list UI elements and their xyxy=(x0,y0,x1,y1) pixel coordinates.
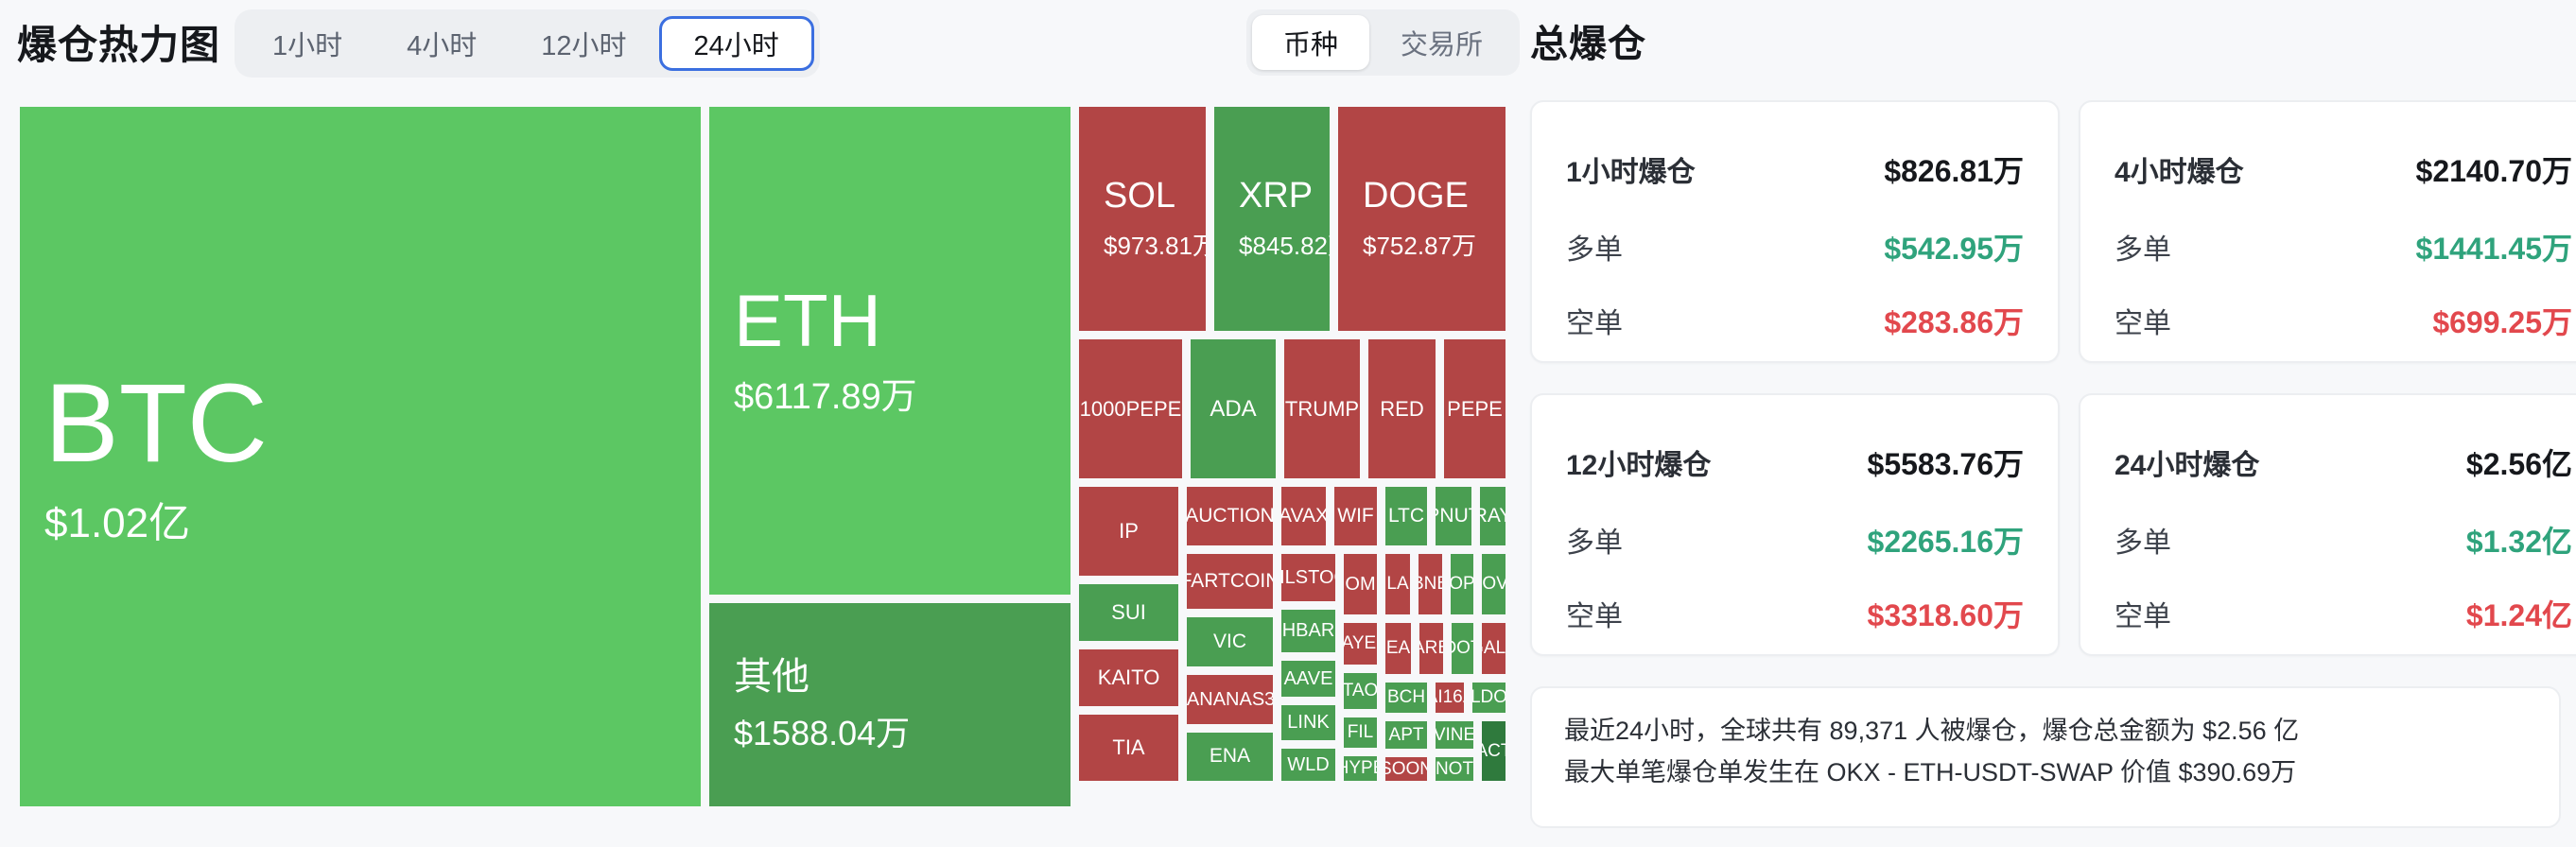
stat-label: 1小时爆仓 xyxy=(1566,148,1696,190)
stat-value-total: $5583.76万 xyxy=(1868,441,2024,484)
treemap-tile-AVAX[interactable]: AVAX xyxy=(1279,484,1329,548)
stat-label: 空单 xyxy=(2115,593,2171,634)
treemap-tile-RAY[interactable]: RAY xyxy=(1477,484,1508,548)
stat-row-short: 空单$1.24亿 xyxy=(2115,592,2572,635)
treemap-tile-PEPE[interactable]: PEPE xyxy=(1441,337,1508,481)
stat-row-short: 空单$3318.60万 xyxy=(1566,592,2024,635)
time-range-tab-1小时[interactable]: 1小时 xyxy=(240,16,374,71)
tile-symbol: JAILSTOOL xyxy=(1279,568,1338,588)
treemap-tile-BTC[interactable]: BTC$1.02亿 xyxy=(17,104,704,809)
treemap-tile-DOT[interactable]: DOT xyxy=(1449,620,1476,677)
tile-symbol: LINK xyxy=(1287,713,1329,733)
tile-symbol: ADA xyxy=(1210,397,1256,421)
stat-row-total: 12小时爆仓$5583.76万 xyxy=(1566,441,2024,484)
tile-symbol: AAVE xyxy=(1284,669,1333,689)
tile-symbol: VINE xyxy=(1434,726,1475,745)
time-range-tab-12小时[interactable]: 12小时 xyxy=(509,16,658,71)
treemap-tile-ADA[interactable]: ADA xyxy=(1188,337,1279,481)
treemap-tile-WLD[interactable]: WLD xyxy=(1279,746,1338,784)
treemap-tile-FARTCOIN[interactable]: FARTCOIN xyxy=(1184,551,1276,612)
stat-value-short: $699.25万 xyxy=(2432,299,2572,342)
treemap-tile-NOT[interactable]: NOT xyxy=(1433,754,1476,784)
stat-label: 多单 xyxy=(2115,519,2171,561)
tile-symbol: PEPE xyxy=(1447,398,1503,420)
treemap-tile-TRUMP[interactable]: TRUMP xyxy=(1281,337,1363,481)
page-header: 爆仓热力图 1小时4小时12小时24小时 币种交易所 总爆仓 xyxy=(0,0,2576,91)
tile-amount: $1.02亿 xyxy=(44,500,701,548)
stat-row-short: 空单$283.86万 xyxy=(1566,299,2024,342)
treemap-tile-NEAR[interactable]: NEAR xyxy=(1383,620,1414,677)
treemap-tile-LAYER[interactable]: LAYER xyxy=(1341,620,1380,667)
tile-symbol: SUI xyxy=(1111,601,1146,623)
treemap-tile-AAVE[interactable]: AAVE xyxy=(1279,658,1338,700)
tile-symbol: OM xyxy=(1345,575,1375,595)
time-range-tab-4小时[interactable]: 4小时 xyxy=(374,16,509,71)
stat-label: 4小时爆仓 xyxy=(2115,148,2244,190)
treemap-tile-DOGE[interactable]: DOGE$752.87万 xyxy=(1335,104,1508,334)
treemap-tile-VIC[interactable]: VIC xyxy=(1184,614,1276,669)
treemap-tile-PNUT[interactable]: PNUT xyxy=(1433,484,1474,548)
treemap-tile-FIL[interactable]: FIL xyxy=(1341,715,1380,751)
tile-symbol: WLD xyxy=(1287,755,1329,775)
treemap-tile-SOL[interactable]: SOL$973.81万 xyxy=(1076,104,1209,334)
stat-row-long: 多单$2265.16万 xyxy=(1566,518,2024,562)
treemap-tile-JAILSTOOL[interactable]: JAILSTOOL xyxy=(1279,551,1338,604)
tile-symbol: TIA xyxy=(1112,736,1144,758)
tile-symbol: FARTCOIN xyxy=(1184,571,1276,592)
tile-symbol: BNB xyxy=(1416,575,1445,594)
tile-amount: $752.87万 xyxy=(1363,233,1506,261)
treemap-tile-KAITO[interactable]: KAITO xyxy=(1076,647,1181,709)
stat-row-long: 多单$1.32亿 xyxy=(2115,518,2572,562)
page-title: 爆仓热力图 xyxy=(17,13,220,71)
stat-row-long: 多单$542.95万 xyxy=(1566,225,2024,268)
stat-value-short: $283.86万 xyxy=(1884,299,2024,342)
stat-row-short: 空单$699.25万 xyxy=(2115,299,2572,342)
treemap-tile-GALA[interactable]: GALA xyxy=(1479,620,1508,677)
treemap-tile-SOON[interactable]: SOON xyxy=(1383,754,1430,784)
tile-symbol: MOVE xyxy=(1479,575,1508,594)
stat-label: 空单 xyxy=(1566,593,1623,634)
treemap-tile-WIF[interactable]: WIF xyxy=(1332,484,1380,548)
treemap-tile-LA[interactable]: LA xyxy=(1383,551,1413,617)
treemap-tile-XRP[interactable]: XRP$845.82万 xyxy=(1211,104,1332,334)
stat-card-12小时爆仓: 12小时爆仓$5583.76万多单$2265.16万空单$3318.60万 xyxy=(1530,393,2060,656)
stat-card-4小时爆仓: 4小时爆仓$2140.70万多单$1441.45万空单$699.25万 xyxy=(2079,100,2576,363)
treemap-tile-APT[interactable]: APT xyxy=(1383,718,1430,752)
tile-symbol: IP xyxy=(1119,520,1139,542)
tile-symbol: AUCTION xyxy=(1185,506,1275,527)
tile-symbol: RAY xyxy=(1477,506,1508,527)
view-mode-toggle-group[interactable]: 币种交易所 xyxy=(1246,9,1520,76)
treemap-tile-LDO[interactable]: LDO xyxy=(1470,680,1508,716)
treemap-tile-AI16Z[interactable]: AI16Z xyxy=(1433,680,1467,716)
tile-amount: $1588.04万 xyxy=(734,714,1070,752)
tile-symbol: 1000PEPE xyxy=(1080,398,1182,420)
tile-amount: $6117.89万 xyxy=(734,377,1070,419)
tile-symbol: AI16Z xyxy=(1433,688,1467,707)
tile-symbol: TAO xyxy=(1343,682,1379,700)
stat-label: 空单 xyxy=(2115,300,2171,341)
stat-value-total: $2.56亿 xyxy=(2466,441,2572,484)
tile-symbol: KAITO xyxy=(1098,666,1160,688)
treemap-tile-ACT[interactable]: ACT xyxy=(1479,718,1508,784)
tile-symbol: NOT xyxy=(1436,760,1473,779)
treemap-tile-MOVE[interactable]: MOVE xyxy=(1479,551,1508,617)
stat-label: 多单 xyxy=(1566,226,1623,268)
stat-value-short: $1.24亿 xyxy=(2466,592,2572,635)
summary-line-2: 最大单笔爆仓单发生在 OKX - ETH-USDT-SWAP 价值 $390.6… xyxy=(1532,752,2559,794)
treemap-tile-RED[interactable]: RED xyxy=(1366,337,1438,481)
tile-symbol: LAYER xyxy=(1341,634,1380,653)
tile-symbol: TRUMP xyxy=(1285,398,1359,420)
tile-amount: $973.81万 xyxy=(1104,233,1206,261)
tile-symbol: NEAR xyxy=(1383,639,1414,658)
stat-row-long: 多单$1441.45万 xyxy=(2115,225,2572,268)
treemap-tile-OP[interactable]: OP xyxy=(1448,551,1476,617)
stat-row-total: 24小时爆仓$2.56亿 xyxy=(2115,441,2572,484)
time-range-tab-24小时[interactable]: 24小时 xyxy=(659,16,814,71)
stat-value-long: $1.32亿 xyxy=(2466,518,2572,562)
view-mode-tab-币种[interactable]: 币种 xyxy=(1252,15,1369,70)
treemap-tile-HYPE[interactable]: HYPE xyxy=(1341,753,1380,784)
stat-card-1小时爆仓: 1小时爆仓$826.81万多单$542.95万空单$283.86万 xyxy=(1530,100,2060,363)
stat-row-total: 1小时爆仓$826.81万 xyxy=(1566,147,2024,191)
treemap-tile-HBAR[interactable]: HBAR xyxy=(1279,607,1338,655)
tile-symbol: HYPE xyxy=(1341,759,1380,778)
tile-symbol: AVAX xyxy=(1279,506,1329,527)
treemap-tile-ENA[interactable]: ENA xyxy=(1184,730,1276,784)
treemap-tile-OM[interactable]: OM xyxy=(1341,551,1380,617)
tile-symbol: SOON xyxy=(1383,760,1430,779)
tile-symbol: DOT xyxy=(1449,639,1476,658)
tile-symbol: XRP xyxy=(1239,178,1330,216)
treemap-tile-IP[interactable]: IP xyxy=(1076,484,1181,579)
stat-value-long: $2265.16万 xyxy=(1868,518,2024,562)
stat-value-total: $826.81万 xyxy=(1884,147,2024,191)
treemap-tile-1000PEPE[interactable]: 1000PEPE xyxy=(1076,337,1185,481)
tile-amount: $845.82万 xyxy=(1239,233,1330,261)
treemap-tile-VINE[interactable]: VINE xyxy=(1433,718,1476,752)
tile-symbol: GALA xyxy=(1479,639,1508,658)
tile-symbol: ENA xyxy=(1210,746,1250,767)
stat-label: 24小时爆仓 xyxy=(2115,441,2259,483)
stat-row-total: 4小时爆仓$2140.70万 xyxy=(2115,147,2572,191)
view-mode-tab-交易所[interactable]: 交易所 xyxy=(1369,15,1514,70)
treemap-tile-LINK[interactable]: LINK xyxy=(1279,702,1338,743)
treemap-tile-BNB[interactable]: BNB xyxy=(1416,551,1445,617)
tile-symbol: SOL xyxy=(1104,178,1206,216)
summary-line-1: 最近24小时，全球共有 89,371 人被爆仓，爆仓总金额为 $2.56 亿 xyxy=(1532,688,2559,752)
tile-symbol: ACT xyxy=(1479,742,1508,761)
panel-title: 总爆仓 xyxy=(1530,13,1646,68)
treemap-tile-LTC[interactable]: LTC xyxy=(1383,484,1430,548)
tile-symbol: PNUT xyxy=(1433,506,1474,527)
tile-symbol: BCH xyxy=(1387,688,1425,707)
stat-value-long: $542.95万 xyxy=(1884,225,2024,268)
tile-symbol: OP xyxy=(1449,575,1474,594)
tile-symbol: DOGE xyxy=(1363,178,1506,216)
tile-symbol: ETH xyxy=(734,283,1070,360)
treemap-tile-BCH[interactable]: BCH xyxy=(1383,680,1430,716)
tile-symbol: RED xyxy=(1380,398,1423,420)
stat-value-total: $2140.70万 xyxy=(2416,147,2572,191)
tile-symbol: HBAR xyxy=(1282,621,1335,641)
treemap-tile-TAO[interactable]: TAO xyxy=(1341,670,1380,712)
summary-card: 最近24小时，全球共有 89,371 人被爆仓，爆仓总金额为 $2.56 亿 最… xyxy=(1530,686,2561,828)
stat-label: 空单 xyxy=(1566,300,1623,341)
treemap-tile-TIA[interactable]: TIA xyxy=(1076,712,1181,784)
stat-value-short: $3318.60万 xyxy=(1868,592,2024,635)
stat-label: 多单 xyxy=(2115,226,2171,268)
stat-card-24小时爆仓: 24小时爆仓$2.56亿多单$1.32亿空单$1.24亿 xyxy=(2079,393,2576,656)
treemap-tile-其他[interactable]: 其他$1588.04万 xyxy=(706,600,1073,809)
stat-label: 12小时爆仓 xyxy=(1566,441,1711,483)
tile-symbol: 其他 xyxy=(734,657,1070,697)
stat-value-long: $1441.45万 xyxy=(2416,225,2572,268)
treemap-tile-AUCTION[interactable]: AUCTION xyxy=(1184,484,1276,548)
stat-label: 多单 xyxy=(1566,519,1623,561)
tile-symbol: BANANAS31 xyxy=(1184,690,1276,710)
time-range-tab-group[interactable]: 1小时4小时12小时24小时 xyxy=(235,9,820,78)
treemap-tile-SUI[interactable]: SUI xyxy=(1076,581,1181,644)
treemap-tile-ETH[interactable]: ETH$6117.89万 xyxy=(706,104,1073,597)
tile-symbol: BTC xyxy=(44,366,701,483)
treemap-tile-BANANAS31[interactable]: BANANAS31 xyxy=(1184,672,1276,727)
tile-symbol: ARB xyxy=(1417,639,1446,658)
treemap-tile-ARB[interactable]: ARB xyxy=(1417,620,1446,677)
tile-symbol: LDO xyxy=(1471,688,1507,707)
tile-symbol: LA xyxy=(1386,575,1408,594)
tile-symbol: LTC xyxy=(1388,506,1424,527)
liquidation-heatmap-treemap[interactable]: BTC$1.02亿ETH$6117.89万其他$1588.04万SOL$973.… xyxy=(17,104,1508,809)
tile-symbol: VIC xyxy=(1213,631,1246,652)
tile-symbol: APT xyxy=(1389,726,1424,745)
tile-symbol: FIL xyxy=(1348,723,1373,742)
tile-symbol: WIF xyxy=(1337,506,1373,527)
